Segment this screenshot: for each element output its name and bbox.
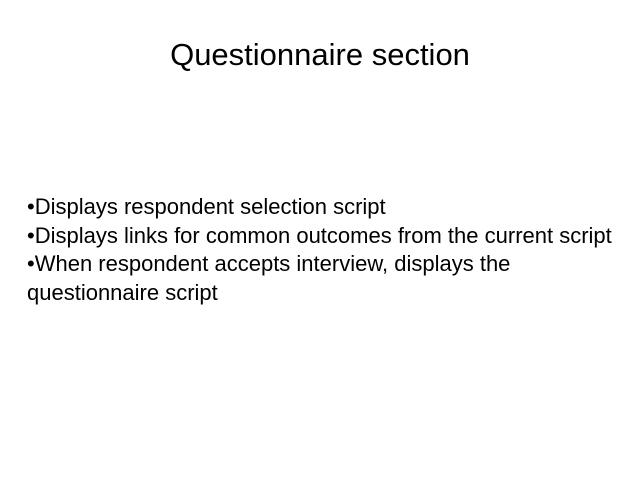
bullet-item-label: Displays respondent selection script bbox=[35, 194, 386, 219]
bullet-item: •Displays links for common outcomes from… bbox=[27, 222, 613, 251]
page-title: Questionnaire section bbox=[170, 36, 470, 74]
bullet-point-icon: • bbox=[27, 223, 35, 248]
bullet-item: •When respondent accepts interview, disp… bbox=[27, 250, 613, 307]
bullet-item: •Displays respondent selection script bbox=[27, 193, 613, 222]
slide-body-placeholder: •Displays respondent selection script •D… bbox=[27, 193, 613, 307]
bullet-item-label: When respondent accepts interview, displ… bbox=[27, 251, 510, 305]
bullet-point-icon: • bbox=[27, 251, 35, 276]
slide-title: Questionnaire section bbox=[0, 36, 640, 74]
slide-canvas: Questionnaire section •Displays responde… bbox=[0, 0, 640, 480]
bullet-point-icon: • bbox=[27, 194, 35, 219]
bullet-item-label: Displays links for common outcomes from … bbox=[35, 223, 612, 248]
